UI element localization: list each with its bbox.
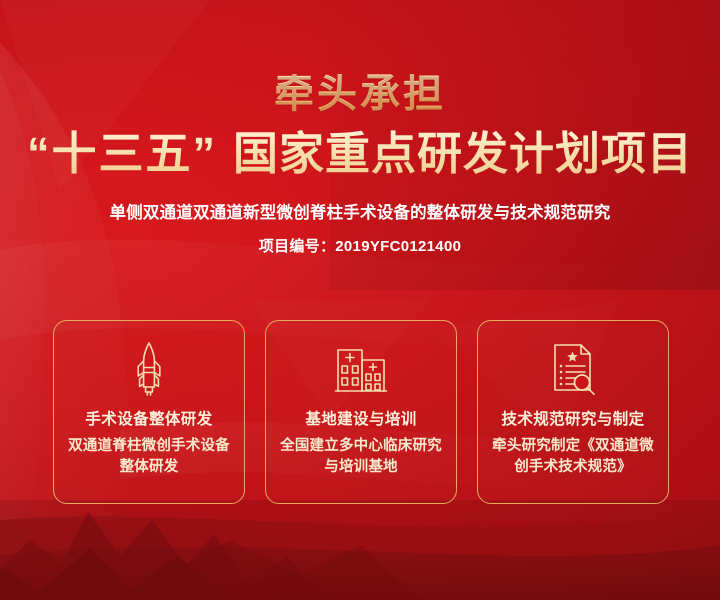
- feature-card[interactable]: 基地建设与培训 全国建立多中心临床研究与培训基地: [265, 320, 457, 504]
- page-title-sub-quoted: “十三五”: [27, 128, 217, 179]
- feature-card-title: 基地建设与培训: [305, 407, 416, 429]
- rocket-icon: [129, 341, 169, 397]
- hospital-building-icon: [334, 341, 388, 397]
- poster-header: 牵头承担 “十三五”国家重点研发计划项目 单侧双通道双通道新型微创脊柱手术设备的…: [0, 0, 720, 256]
- feature-card-title: 技术规范研究与制定: [501, 407, 644, 429]
- feature-card-description: 全国建立多中心临床研究与培训基地: [277, 436, 445, 477]
- feature-card-list: 手术设备整体研发 双通道脊柱微创手术设备整体研发: [53, 320, 669, 504]
- project-code: 项目编号：2019YFC0121400: [0, 235, 720, 256]
- feature-card[interactable]: 手术设备整体研发 双通道脊柱微创手术设备整体研发: [53, 320, 245, 504]
- page-title-sub-rest: 国家重点研发计划项目: [233, 128, 693, 179]
- page-title-sub: “十三五”国家重点研发计划项目: [0, 130, 720, 177]
- feature-card-description: 双通道脊柱微创手术设备整体研发: [65, 436, 233, 477]
- feature-card-description: 牵头研究制定《双通道微创手术技术规范》: [489, 436, 657, 477]
- page-title-main: 牵头承担: [0, 74, 720, 114]
- document-magnifier-icon: [549, 341, 597, 397]
- project-subtitle: 单侧双通道双通道新型微创脊柱手术设备的整体研发与技术规范研究: [0, 199, 720, 223]
- feature-card[interactable]: 技术规范研究与制定 牵头研究制定《双通道微创手术技术规范》: [477, 320, 669, 504]
- poster-canvas: 牵头承担 “十三五”国家重点研发计划项目 单侧双通道双通道新型微创脊柱手术设备的…: [0, 0, 720, 600]
- feature-card-title: 手术设备整体研发: [85, 407, 212, 429]
